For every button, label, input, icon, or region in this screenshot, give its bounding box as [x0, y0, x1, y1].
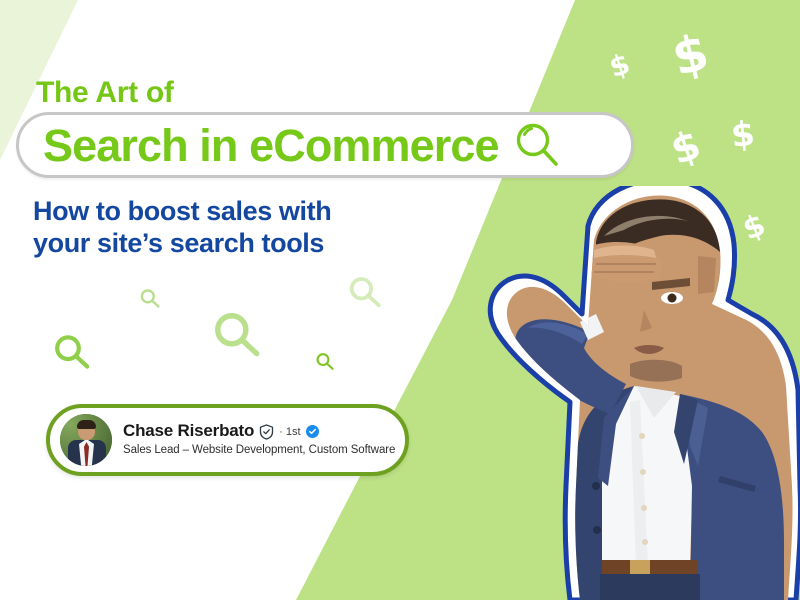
magnifier-deco-3	[211, 310, 263, 367]
profile-name-row: Chase Riserbato · 1st	[123, 422, 395, 441]
subheadline-line-1: How to boost sales with	[33, 196, 453, 228]
subheadline: How to boost sales with your site’s sear…	[33, 196, 453, 260]
search-bar[interactable]: Search in eCommerce	[16, 112, 634, 178]
subheadline-line-2: your site’s search tools	[33, 228, 453, 260]
magnifier-deco-5	[315, 352, 335, 377]
avatar	[60, 414, 112, 466]
person-cutout-image	[484, 186, 800, 600]
profile-title: Sales Lead – Website Development, Custom…	[123, 444, 395, 458]
profile-card[interactable]: Chase Riserbato · 1st Sales Lead – Websi…	[46, 404, 409, 476]
dollar-sign-3: $	[729, 117, 756, 153]
profile-info: Chase Riserbato · 1st Sales Lead – Websi…	[123, 422, 395, 457]
magnifier-icon[interactable]	[511, 119, 563, 171]
verified-badge-icon	[306, 425, 319, 438]
connection-degree: · 1st	[279, 426, 300, 438]
profile-name: Chase Riserbato	[123, 422, 254, 441]
magnifier-deco-1	[52, 333, 92, 378]
magnifier-deco-2	[139, 288, 161, 315]
avatar-hair	[77, 420, 96, 429]
shield-check-icon	[259, 424, 274, 440]
search-query-text: Search in eCommerce	[43, 123, 499, 168]
magnifier-deco-4	[347, 275, 383, 316]
poster-canvas: $$$$$	[0, 0, 800, 600]
eyebrow-text: The Art of	[36, 76, 174, 110]
